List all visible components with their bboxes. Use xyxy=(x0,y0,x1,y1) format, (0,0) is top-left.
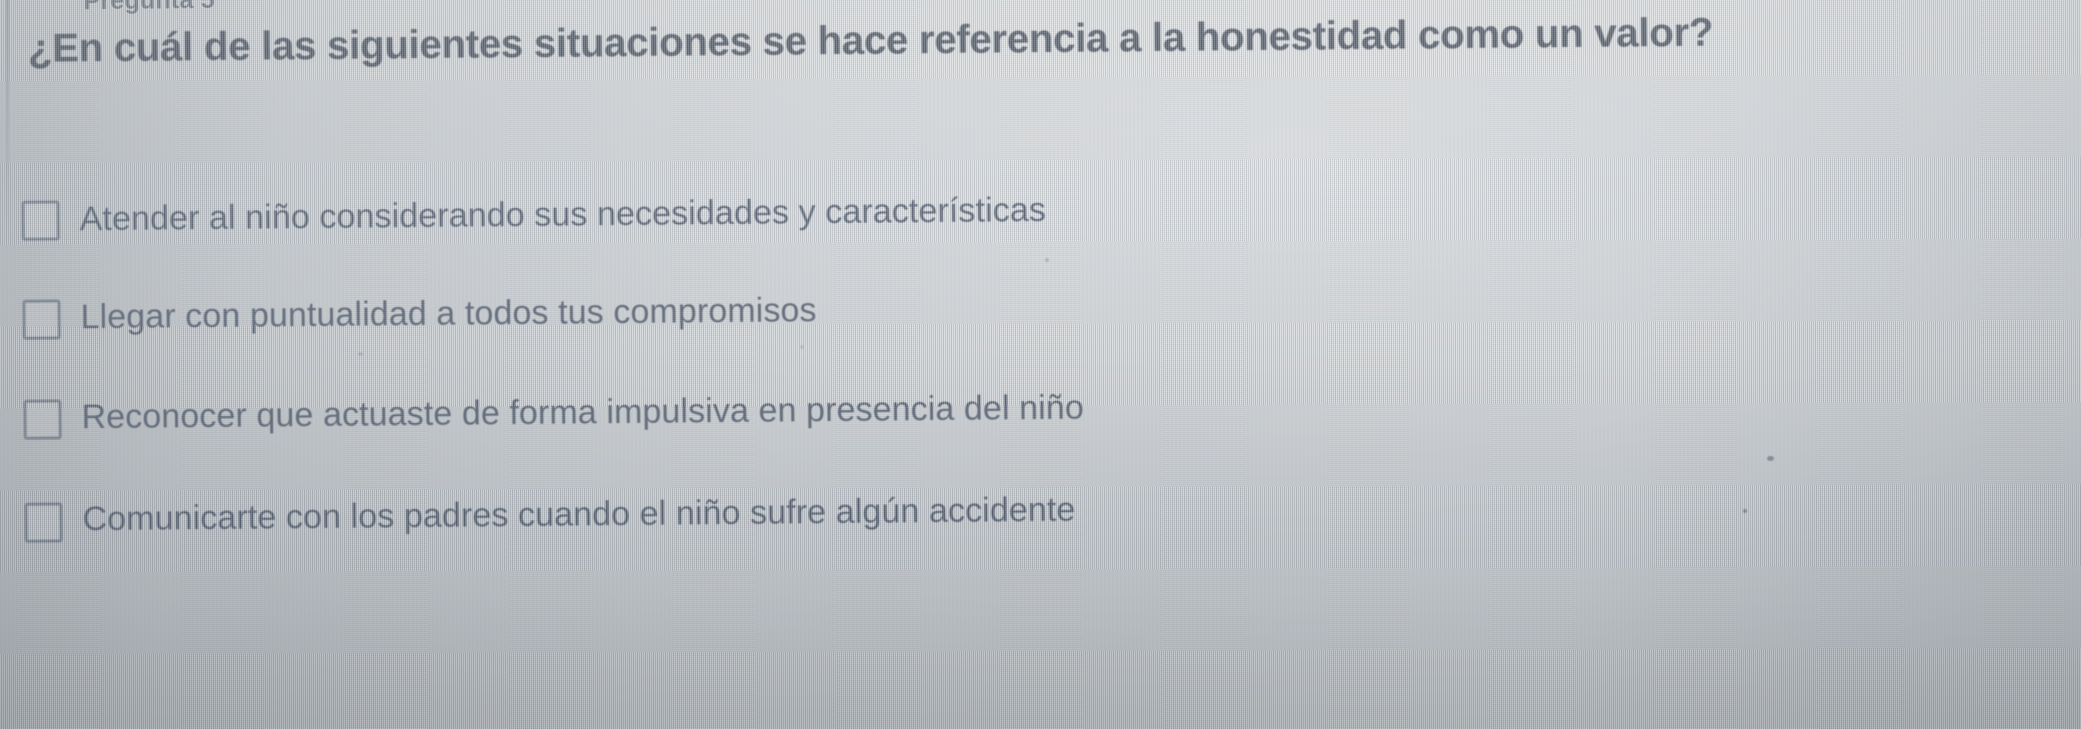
question-prompt: ¿En cuál de las siguientes situaciones s… xyxy=(28,6,2068,73)
checkbox-icon-option-a[interactable] xyxy=(21,200,59,240)
question-number-label: Pregunta 5 xyxy=(83,0,214,16)
checkbox-icon-option-d[interactable] xyxy=(24,502,62,542)
answer-option-c[interactable]: Reconocer que actuaste de forma impulsiv… xyxy=(1,348,2081,468)
answer-options-list: Atender al niño considerando sus necesid… xyxy=(0,150,2081,570)
answer-option-d[interactable]: Comunicarte con los padres cuando el niñ… xyxy=(2,450,2081,570)
answer-option-b-label: Llegar con puntualidad a todos tus compr… xyxy=(80,290,816,338)
answer-option-c-label: Reconocer que actuaste de forma impulsiv… xyxy=(81,387,1084,437)
answer-option-d-label: Comunicarte con los padres cuando el niñ… xyxy=(82,489,1075,539)
quiz-screen-photo: Pregunta 5 ¿En cuál de las siguientes si… xyxy=(0,0,2081,729)
answer-option-b[interactable]: Llegar con puntualidad a todos tus compr… xyxy=(0,248,2081,368)
answer-option-a-label: Atender al niño considerando sus necesid… xyxy=(79,190,1046,240)
checkbox-icon-option-c[interactable] xyxy=(23,399,61,439)
checkbox-icon-option-b[interactable] xyxy=(22,299,60,339)
quiz-content: Pregunta 5 ¿En cuál de las siguientes si… xyxy=(0,0,2081,729)
